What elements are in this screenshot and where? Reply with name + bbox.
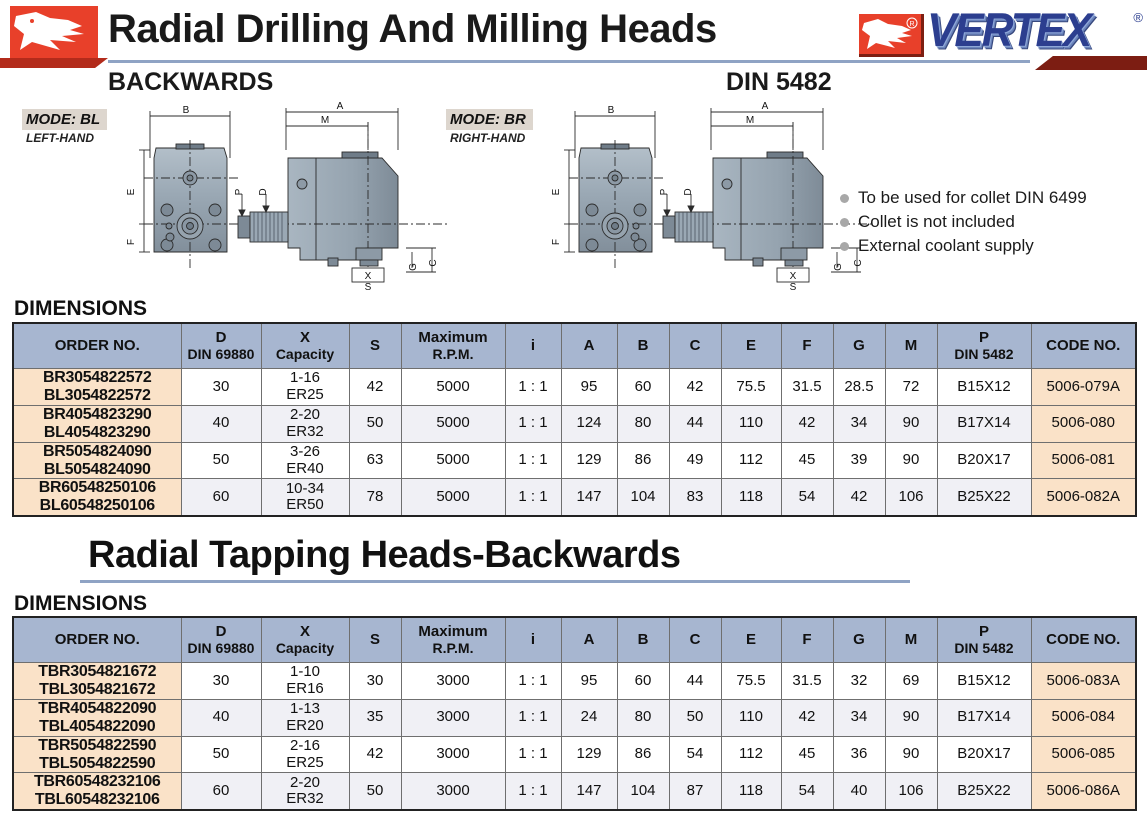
cell-d: 30 — [181, 369, 261, 406]
cell-rpm: 3000 — [401, 699, 505, 736]
cell-e: 112 — [721, 736, 781, 773]
cell-d: 50 — [181, 736, 261, 773]
cell-rpm: 5000 — [401, 369, 505, 406]
cell-s: 35 — [349, 699, 401, 736]
col-c: C — [669, 323, 721, 369]
cell-i: 1 : 1 — [505, 773, 561, 810]
table-row: BR3054822572BL3054822572 30 1-16ER25 42 … — [13, 369, 1136, 406]
col-x-capacity: XCapacity — [261, 617, 349, 663]
cell-code-no: 5006-086A — [1031, 773, 1136, 810]
cell-b: 80 — [617, 405, 669, 442]
cell-m: 90 — [885, 405, 937, 442]
cell-g: 40 — [833, 773, 885, 810]
cell-f: 31.5 — [781, 369, 833, 406]
cell-m: 72 — [885, 369, 937, 406]
svg-text:F: F — [551, 239, 562, 245]
hand-label-br: RIGHT-HAND — [450, 131, 525, 145]
cell-b: 104 — [617, 773, 669, 810]
cell-f: 45 — [781, 736, 833, 773]
svg-text:C: C — [428, 259, 439, 266]
diagram-area: MODE: BL LEFT-HAND — [0, 100, 1147, 295]
table-row: BR5054824090BL5054824090 50 3-26ER40 63 … — [13, 442, 1136, 479]
cell-s: 50 — [349, 405, 401, 442]
cell-rpm: 3000 — [401, 663, 505, 700]
cell-a: 147 — [561, 773, 617, 810]
svg-text:P: P — [234, 188, 245, 195]
dimensions-table-1: ORDER NO. DDIN 69880 XCapacity S Maximum… — [12, 322, 1137, 517]
cell-x-capacity: 10-34ER50 — [261, 479, 349, 516]
cell-i: 1 : 1 — [505, 479, 561, 516]
col-p: PDIN 5482 — [937, 617, 1031, 663]
cell-s: 42 — [349, 369, 401, 406]
cell-x-capacity: 2-20ER32 — [261, 405, 349, 442]
cell-order-no: BR5054824090BL5054824090 — [13, 442, 181, 479]
cell-g: 34 — [833, 699, 885, 736]
svg-text:P: P — [659, 188, 670, 195]
section-title-tapping: Radial Tapping Heads-Backwards — [88, 534, 680, 577]
svg-text:E: E — [551, 188, 562, 195]
svg-text:F: F — [126, 239, 137, 245]
col-order-no: ORDER NO. — [13, 323, 181, 369]
page-title: Radial Drilling And Milling Heads — [108, 0, 717, 58]
dimensions-label-2: DIMENSIONS — [14, 592, 147, 616]
cell-f: 54 — [781, 773, 833, 810]
cell-s: 50 — [349, 773, 401, 810]
cell-x-capacity: 1-16ER25 — [261, 369, 349, 406]
header-rule — [108, 60, 1030, 63]
col-g: G — [833, 323, 885, 369]
table-row: TBR5054822590TBL5054822590 50 2-16ER25 4… — [13, 736, 1136, 773]
section-rule — [80, 580, 910, 583]
col-max-rpm: MaximumR.P.M. — [401, 323, 505, 369]
col-order-no: ORDER NO. — [13, 617, 181, 663]
cell-s: 78 — [349, 479, 401, 516]
cell-x-capacity: 1-10ER16 — [261, 663, 349, 700]
cell-p: B15X12 — [937, 369, 1031, 406]
cell-p: B17X14 — [937, 405, 1031, 442]
cell-s: 63 — [349, 442, 401, 479]
cell-p: B25X22 — [937, 479, 1031, 516]
table-header-row: ORDER NO. DDIN 69880 XCapacity S Maximum… — [13, 323, 1136, 369]
svg-text:G: G — [833, 263, 844, 271]
svg-text:D: D — [258, 188, 269, 195]
cell-order-no: TBR4054822090TBL4054822090 — [13, 699, 181, 736]
svg-text:G: G — [408, 263, 419, 271]
cell-m: 106 — [885, 479, 937, 516]
header-accent-left — [0, 58, 108, 68]
svg-text:E: E — [126, 188, 137, 195]
brand-wordmark: VERTEX — [927, 4, 1090, 58]
cell-g: 32 — [833, 663, 885, 700]
col-i: i — [505, 323, 561, 369]
cell-c: 50 — [669, 699, 721, 736]
cell-f: 54 — [781, 479, 833, 516]
col-b: B — [617, 323, 669, 369]
cell-d: 60 — [181, 773, 261, 810]
col-m: M — [885, 617, 937, 663]
cell-e: 112 — [721, 442, 781, 479]
subtitle-backwards: BACKWARDS — [108, 68, 273, 97]
col-e: E — [721, 323, 781, 369]
cell-c: 44 — [669, 663, 721, 700]
cell-g: 28.5 — [833, 369, 885, 406]
cell-c: 49 — [669, 442, 721, 479]
cell-order-no: TBR60548232106TBL60548232106 — [13, 773, 181, 810]
svg-text:S: S — [365, 282, 372, 293]
cell-s: 42 — [349, 736, 401, 773]
svg-text:B: B — [183, 105, 190, 116]
cell-f: 31.5 — [781, 663, 833, 700]
cell-order-no: BR4054823290BL4054823290 — [13, 405, 181, 442]
col-p: PDIN 5482 — [937, 323, 1031, 369]
cell-c: 83 — [669, 479, 721, 516]
cell-c: 87 — [669, 773, 721, 810]
cell-e: 110 — [721, 699, 781, 736]
col-d: DDIN 69880 — [181, 323, 261, 369]
cell-e: 118 — [721, 479, 781, 516]
bullet-icon — [840, 242, 849, 251]
cell-rpm: 3000 — [401, 736, 505, 773]
cell-order-no: TBR5054822590TBL5054822590 — [13, 736, 181, 773]
cell-code-no: 5006-082A — [1031, 479, 1136, 516]
cell-m: 90 — [885, 442, 937, 479]
col-c: C — [669, 617, 721, 663]
table-row: BR60548250106BL60548250106 60 10-34ER50 … — [13, 479, 1136, 516]
cell-f: 42 — [781, 405, 833, 442]
cell-i: 1 : 1 — [505, 699, 561, 736]
table-row: BR4054823290BL4054823290 40 2-20ER32 50 … — [13, 405, 1136, 442]
svg-text:B: B — [608, 105, 615, 116]
cell-i: 1 : 1 — [505, 405, 561, 442]
svg-text:X: X — [790, 271, 797, 282]
cell-rpm: 3000 — [401, 773, 505, 810]
eagle-head-icon — [10, 6, 98, 58]
col-b: B — [617, 617, 669, 663]
cell-e: 110 — [721, 405, 781, 442]
cell-order-no: BR60548250106BL60548250106 — [13, 479, 181, 516]
cell-i: 1 : 1 — [505, 442, 561, 479]
cell-order-no: BR3054822572BL3054822572 — [13, 369, 181, 406]
cell-m: 106 — [885, 773, 937, 810]
cell-rpm: 5000 — [401, 442, 505, 479]
svg-text:M: M — [321, 115, 329, 126]
cell-x-capacity: 3-26ER40 — [261, 442, 349, 479]
cell-g: 39 — [833, 442, 885, 479]
svg-text:A: A — [337, 101, 344, 112]
cell-a: 95 — [561, 369, 617, 406]
cell-e: 75.5 — [721, 369, 781, 406]
list-item: External coolant supply — [840, 234, 1145, 258]
col-code-no: CODE NO. — [1031, 323, 1136, 369]
cell-d: 30 — [181, 663, 261, 700]
col-max-rpm: MaximumR.P.M. — [401, 617, 505, 663]
cell-f: 45 — [781, 442, 833, 479]
cell-b: 86 — [617, 736, 669, 773]
col-d: DDIN 69880 — [181, 617, 261, 663]
dimensions-table-2: ORDER NO. DDIN 69880 XCapacity S Maximum… — [12, 616, 1137, 811]
note-text: Collet is not included — [858, 212, 1015, 232]
notes-list: To be used for collet DIN 6499 Collet is… — [840, 186, 1145, 258]
col-m: M — [885, 323, 937, 369]
cell-p: B17X14 — [937, 699, 1031, 736]
cell-x-capacity: 2-16ER25 — [261, 736, 349, 773]
cell-c: 54 — [669, 736, 721, 773]
table-row: TBR3054821672TBL3054821672 30 1-10ER16 3… — [13, 663, 1136, 700]
cell-c: 44 — [669, 405, 721, 442]
cell-g: 42 — [833, 479, 885, 516]
vertex-brand-logo: R VERTEX ® — [845, 4, 1145, 60]
cell-c: 42 — [669, 369, 721, 406]
mode-label-bl: MODE: BL — [22, 109, 107, 130]
cell-rpm: 5000 — [401, 479, 505, 516]
col-code-no: CODE NO. — [1031, 617, 1136, 663]
cell-code-no: 5006-084 — [1031, 699, 1136, 736]
cell-a: 129 — [561, 736, 617, 773]
cell-m: 90 — [885, 736, 937, 773]
svg-text:S: S — [790, 282, 797, 293]
cell-a: 95 — [561, 663, 617, 700]
cell-code-no: 5006-081 — [1031, 442, 1136, 479]
cell-i: 1 : 1 — [505, 736, 561, 773]
col-e: E — [721, 617, 781, 663]
col-s: S — [349, 323, 401, 369]
registered-mark: ® — [1133, 10, 1143, 25]
cell-code-no: 5006-079A — [1031, 369, 1136, 406]
cell-e: 118 — [721, 773, 781, 810]
cell-code-no: 5006-085 — [1031, 736, 1136, 773]
cell-x-capacity: 2-20ER32 — [261, 773, 349, 810]
cell-code-no: 5006-080 — [1031, 405, 1136, 442]
svg-text:R: R — [909, 21, 914, 28]
cell-p: B25X22 — [937, 773, 1031, 810]
cell-b: 80 — [617, 699, 669, 736]
col-a: A — [561, 323, 617, 369]
cell-i: 1 : 1 — [505, 369, 561, 406]
header-accent-right — [1035, 56, 1147, 70]
bullet-icon — [840, 218, 849, 227]
cell-b: 104 — [617, 479, 669, 516]
cell-i: 1 : 1 — [505, 663, 561, 700]
cell-b: 60 — [617, 369, 669, 406]
col-i: i — [505, 617, 561, 663]
svg-text:A: A — [762, 101, 769, 112]
cell-x-capacity: 1-13ER20 — [261, 699, 349, 736]
cell-b: 86 — [617, 442, 669, 479]
col-f: F — [781, 323, 833, 369]
table-row: TBR4054822090TBL4054822090 40 1-13ER20 3… — [13, 699, 1136, 736]
cell-f: 42 — [781, 699, 833, 736]
cell-d: 60 — [181, 479, 261, 516]
cell-m: 69 — [885, 663, 937, 700]
list-item: To be used for collet DIN 6499 — [840, 186, 1145, 210]
col-x-capacity: XCapacity — [261, 323, 349, 369]
hand-label-bl: LEFT-HAND — [26, 131, 94, 145]
table-row: TBR60548232106TBL60548232106 60 2-20ER32… — [13, 773, 1136, 810]
cell-g: 34 — [833, 405, 885, 442]
page-header: Radial Drilling And Milling Heads R VERT… — [0, 0, 1147, 62]
eagle-head-icon: R — [859, 14, 924, 57]
cell-p: B15X12 — [937, 663, 1031, 700]
cell-a: 124 — [561, 405, 617, 442]
cell-order-no: TBR3054821672TBL3054821672 — [13, 663, 181, 700]
dimensions-label-1: DIMENSIONS — [14, 297, 147, 321]
cell-a: 129 — [561, 442, 617, 479]
cell-g: 36 — [833, 736, 885, 773]
col-s: S — [349, 617, 401, 663]
cell-a: 24 — [561, 699, 617, 736]
col-f: F — [781, 617, 833, 663]
note-text: To be used for collet DIN 6499 — [858, 188, 1087, 208]
cell-a: 147 — [561, 479, 617, 516]
cell-rpm: 5000 — [401, 405, 505, 442]
svg-text:C: C — [853, 259, 864, 266]
col-a: A — [561, 617, 617, 663]
svg-text:X: X — [365, 271, 372, 282]
cell-b: 60 — [617, 663, 669, 700]
mode-label-br: MODE: BR — [446, 109, 533, 130]
cell-p: B20X17 — [937, 736, 1031, 773]
svg-text:M: M — [746, 115, 754, 126]
cell-code-no: 5006-083A — [1031, 663, 1136, 700]
cell-d: 50 — [181, 442, 261, 479]
cell-d: 40 — [181, 405, 261, 442]
subtitle-din-standard: DIN 5482 — [726, 68, 832, 97]
cell-p: B20X17 — [937, 442, 1031, 479]
svg-text:D: D — [683, 188, 694, 195]
cell-s: 30 — [349, 663, 401, 700]
bullet-icon — [840, 194, 849, 203]
note-text: External coolant supply — [858, 236, 1034, 256]
cell-m: 90 — [885, 699, 937, 736]
table-header-row: ORDER NO. DDIN 69880 XCapacity S Maximum… — [13, 617, 1136, 663]
cell-e: 75.5 — [721, 663, 781, 700]
list-item: Collet is not included — [840, 210, 1145, 234]
col-g: G — [833, 617, 885, 663]
cell-d: 40 — [181, 699, 261, 736]
